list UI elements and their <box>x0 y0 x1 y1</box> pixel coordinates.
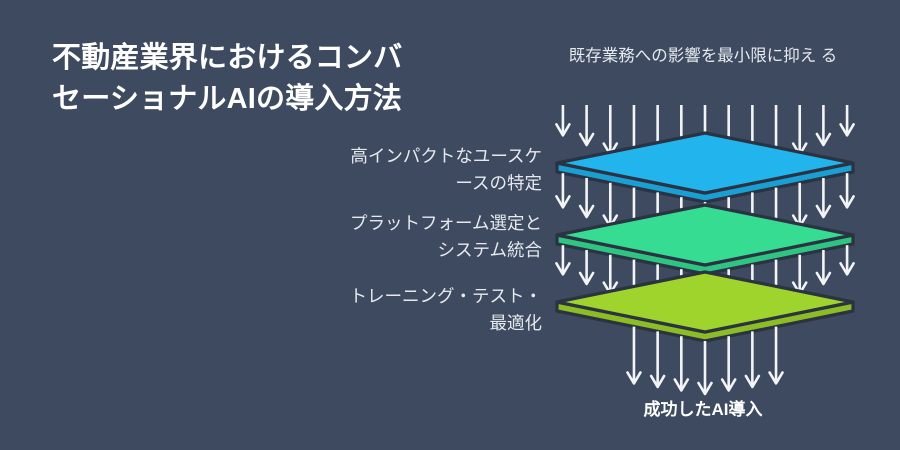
down-arrow <box>841 105 854 135</box>
layer-stack-diagram <box>520 0 900 450</box>
down-arrow <box>793 183 806 227</box>
step-label-1: 高インパクトなユースケ ースの特定 <box>292 143 542 197</box>
down-arrow <box>699 341 712 394</box>
blue-layer <box>557 133 853 202</box>
down-arrow <box>841 173 854 207</box>
down-arrow <box>770 327 783 384</box>
page-title: 不動産業界におけるコンバ セーショナルAIの導入方法 <box>52 38 472 120</box>
blue-layer-top-face <box>557 133 853 193</box>
step-label-2: プラットフォーム選定と システム統合 <box>292 210 542 264</box>
down-arrow <box>675 336 688 390</box>
down-arrow <box>841 245 854 274</box>
layer-stack-svg <box>520 0 900 450</box>
infographic-canvas: 不動産業界におけるコンバ セーショナルAIの導入方法 高インパクトなユースケ ー… <box>0 0 900 450</box>
down-arrow <box>580 250 593 284</box>
down-arrow <box>556 105 569 135</box>
down-arrow <box>746 331 759 387</box>
down-arrow <box>580 105 593 145</box>
down-arrow <box>793 105 806 155</box>
green-layer-top-face <box>557 205 853 265</box>
down-arrow <box>604 105 617 155</box>
down-arrow <box>651 331 664 387</box>
step-label-3: トレーニング・テスト・ 最適化 <box>292 283 542 337</box>
down-arrow <box>793 255 806 294</box>
down-arrow <box>604 183 617 227</box>
down-arrow <box>604 255 617 294</box>
down-arrow <box>817 178 830 217</box>
green-layer <box>557 205 853 274</box>
lime-layer <box>557 272 853 341</box>
down-arrow <box>556 245 569 274</box>
down-arrow <box>817 105 830 145</box>
lime-layer-top-face <box>557 272 853 332</box>
down-arrow <box>580 178 593 217</box>
down-arrow <box>627 327 640 384</box>
down-arrow <box>817 250 830 284</box>
down-arrow <box>722 336 735 390</box>
down-arrow <box>556 173 569 207</box>
